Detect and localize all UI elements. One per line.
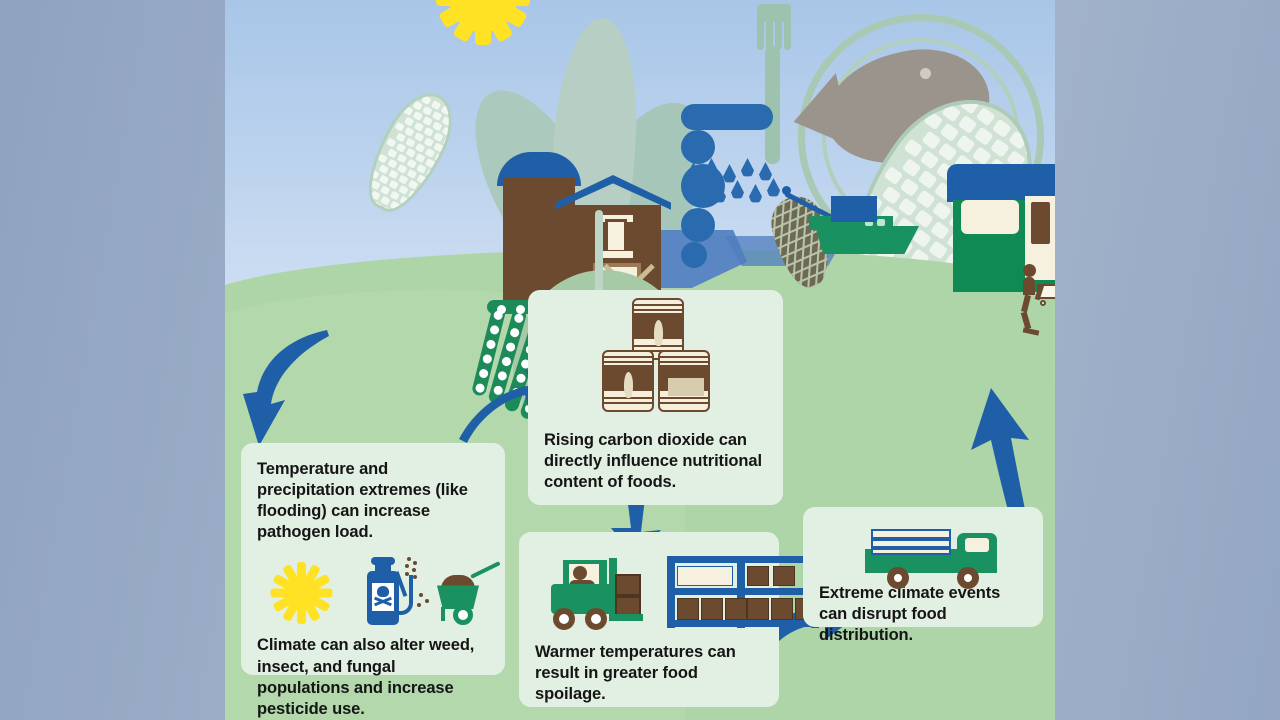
corn-kernel <box>423 127 433 137</box>
forklift-driver-head <box>573 566 587 580</box>
corn-kernel <box>396 143 406 153</box>
panel-spoilage-text: Warmer temperatures can result in greate… <box>535 642 763 705</box>
corn-kernel <box>422 116 432 126</box>
corn-kernel <box>920 150 940 169</box>
pallet-box <box>615 596 641 616</box>
corn-kernel <box>431 111 441 121</box>
food-can <box>602 350 654 412</box>
shelf-beam <box>667 588 819 595</box>
food-can <box>658 350 710 412</box>
corn-kernel <box>407 180 417 190</box>
corn-kernel <box>380 196 390 206</box>
shopping-cart-icon <box>1037 284 1055 306</box>
shelf-crate <box>725 598 747 620</box>
wheelbarrow-handle <box>470 562 501 580</box>
corn-kernel <box>424 137 434 147</box>
fork-icon <box>757 4 789 54</box>
cloud-puff <box>681 242 707 268</box>
wheelbarrow-wheel <box>453 605 473 625</box>
truck-cargo <box>871 529 951 555</box>
corn-kernel <box>413 111 423 121</box>
water-dot <box>505 341 516 352</box>
shopper-torso <box>1023 277 1035 295</box>
panel-distribution: Extreme climate events can disrupt food … <box>803 507 1043 627</box>
corn-kernel <box>415 143 425 153</box>
corn-kernel <box>416 174 426 184</box>
corn-kernel <box>415 153 425 163</box>
canned-food-icon <box>588 298 728 414</box>
boat-cabin-icon <box>831 196 877 222</box>
corn-kernel <box>379 175 389 185</box>
corn-kernel <box>397 164 407 174</box>
sun-icon <box>427 0 539 54</box>
corn-kernel <box>974 127 994 146</box>
corn-kernel <box>405 137 415 147</box>
corn-kernel <box>413 122 423 132</box>
corn-kernel <box>921 131 941 150</box>
corn-kernel <box>406 158 416 168</box>
corn-kernel <box>992 119 1012 138</box>
shelf-crate <box>773 566 795 586</box>
corn-kernel <box>370 190 380 200</box>
corn-kernel <box>882 186 902 205</box>
shelf-crate <box>771 598 793 620</box>
forklift-wheel <box>585 608 607 630</box>
barn-loft-window <box>605 219 627 253</box>
corn-kernel <box>1008 130 1028 149</box>
corn-kernel <box>976 107 996 126</box>
truck-wheel <box>957 567 979 589</box>
corn-kernel <box>900 178 920 197</box>
corn-kernel <box>938 142 958 161</box>
shelf-crate <box>747 598 769 620</box>
panel-co2: Rising carbon dioxide can directly influ… <box>528 290 783 505</box>
forklift-tine <box>609 614 643 621</box>
corn-kernel <box>378 164 388 174</box>
corn-kernel <box>916 189 936 208</box>
corn-kernel <box>441 116 451 126</box>
panel-co2-text: Rising carbon dioxide can directly influ… <box>544 430 767 493</box>
corn-kernel <box>898 197 918 216</box>
panel-pathogen-text-top: Temperature and precipitation extremes (… <box>257 459 489 543</box>
corn-kernel <box>432 121 442 131</box>
wheelbarrow-icon <box>433 569 505 629</box>
shelf-pallet <box>677 566 733 586</box>
fork-tine <box>784 4 791 50</box>
water-dot <box>513 313 524 324</box>
shelf-beam <box>667 620 819 627</box>
fork-tine <box>766 4 773 50</box>
shelf-crate <box>747 566 769 586</box>
corn-kernel <box>914 209 934 228</box>
corn-kernel <box>433 132 443 142</box>
cart-wheel <box>1040 300 1046 306</box>
corn-kernel <box>378 154 388 164</box>
forklift-icon <box>551 558 655 636</box>
corn-kernel <box>404 116 414 126</box>
cloud-puff <box>681 130 715 164</box>
corn-kernel <box>902 158 922 177</box>
corn-kernel <box>416 164 426 174</box>
corn-kernel <box>386 138 396 148</box>
arrow-farm-to-pathogen <box>241 330 351 450</box>
corn-kernel <box>923 111 943 130</box>
sprayer-hose <box>397 575 413 615</box>
corn-kernel <box>412 100 422 110</box>
corn-kernel <box>958 115 978 134</box>
corn-kernel <box>883 166 903 185</box>
water-dot <box>481 353 492 364</box>
corn-kernel <box>425 158 435 168</box>
corn-kernel <box>389 190 399 200</box>
cloud-puff <box>681 208 715 242</box>
corn-kernel <box>431 100 441 110</box>
corn-kernel <box>370 180 380 190</box>
corn-kernel <box>956 134 976 153</box>
store-window <box>961 200 1019 234</box>
water-dot <box>497 305 506 314</box>
water-dot <box>509 327 520 338</box>
corn-kernel <box>421 95 431 105</box>
fishing-boat-icon <box>815 226 919 254</box>
corn-kernel <box>387 159 397 169</box>
shelf-crate <box>701 598 723 620</box>
truck-wheel <box>887 567 909 589</box>
corn-kernel <box>379 185 389 195</box>
rain-cloud-icon <box>681 104 773 156</box>
corn-kernel <box>433 142 443 152</box>
corn-kernel <box>903 138 923 157</box>
corn-kernel <box>414 132 424 142</box>
fork-tine <box>757 4 764 50</box>
forklift-wheel <box>553 608 575 630</box>
corn-kernel <box>422 106 432 116</box>
corn-kernel <box>990 138 1010 157</box>
water-dot <box>489 324 500 335</box>
corn-kernel <box>940 123 960 142</box>
warehouse-shelving-icon <box>667 556 819 628</box>
corn-kernel <box>394 122 404 132</box>
truck-window <box>965 538 989 552</box>
panel-spoilage: Warmer temperatures can result in greate… <box>519 532 779 707</box>
corn-kernel <box>396 153 406 163</box>
water-dot <box>516 305 525 314</box>
corn-kernel <box>972 146 992 165</box>
corn-kernel <box>424 148 434 158</box>
corn-kernel <box>928 240 948 259</box>
pallet-box <box>615 574 641 596</box>
corn-kernel <box>404 127 414 137</box>
panel-pathogen-icons <box>257 551 489 629</box>
corn-kernel <box>405 148 415 158</box>
infographic-canvas: Temperature and precipitation extremes (… <box>225 0 1055 720</box>
store-door <box>1031 202 1050 244</box>
corn-kernel <box>369 169 379 179</box>
barn-loft-bottom <box>599 251 633 258</box>
fork-tine <box>775 4 782 50</box>
corn-kernel <box>389 180 399 190</box>
wheelbarrow-leg <box>441 607 445 621</box>
corn-kernel <box>388 169 398 179</box>
corn-kernel <box>403 106 413 116</box>
panel-pathogen-text-bottom: Climate can also alter weed, insect, and… <box>257 635 489 719</box>
shopper-head <box>1023 264 1036 277</box>
corn-kernel <box>941 103 961 122</box>
shopper-leg <box>1021 295 1031 313</box>
corn-kernel <box>398 185 408 195</box>
corn-kernel <box>395 132 405 142</box>
shelf-crate <box>677 598 699 620</box>
pesticide-sprayer-icon <box>355 555 419 629</box>
sun-icon <box>265 557 337 629</box>
boat-window <box>877 219 885 226</box>
corn-kernel <box>918 170 938 189</box>
corn-kernel <box>387 148 397 158</box>
corn-kernel <box>441 105 451 115</box>
corn-kernel <box>407 169 417 179</box>
corn-kernel <box>398 174 408 184</box>
water-dot <box>485 339 496 350</box>
shelf-beam <box>667 556 819 563</box>
cloud-base <box>681 104 773 130</box>
fish-eye-icon <box>920 68 931 79</box>
skull-and-crossbones-icon <box>375 586 391 608</box>
delivery-truck-icon <box>865 527 1005 593</box>
panel-pathogen: Temperature and precipitation extremes (… <box>241 443 505 675</box>
